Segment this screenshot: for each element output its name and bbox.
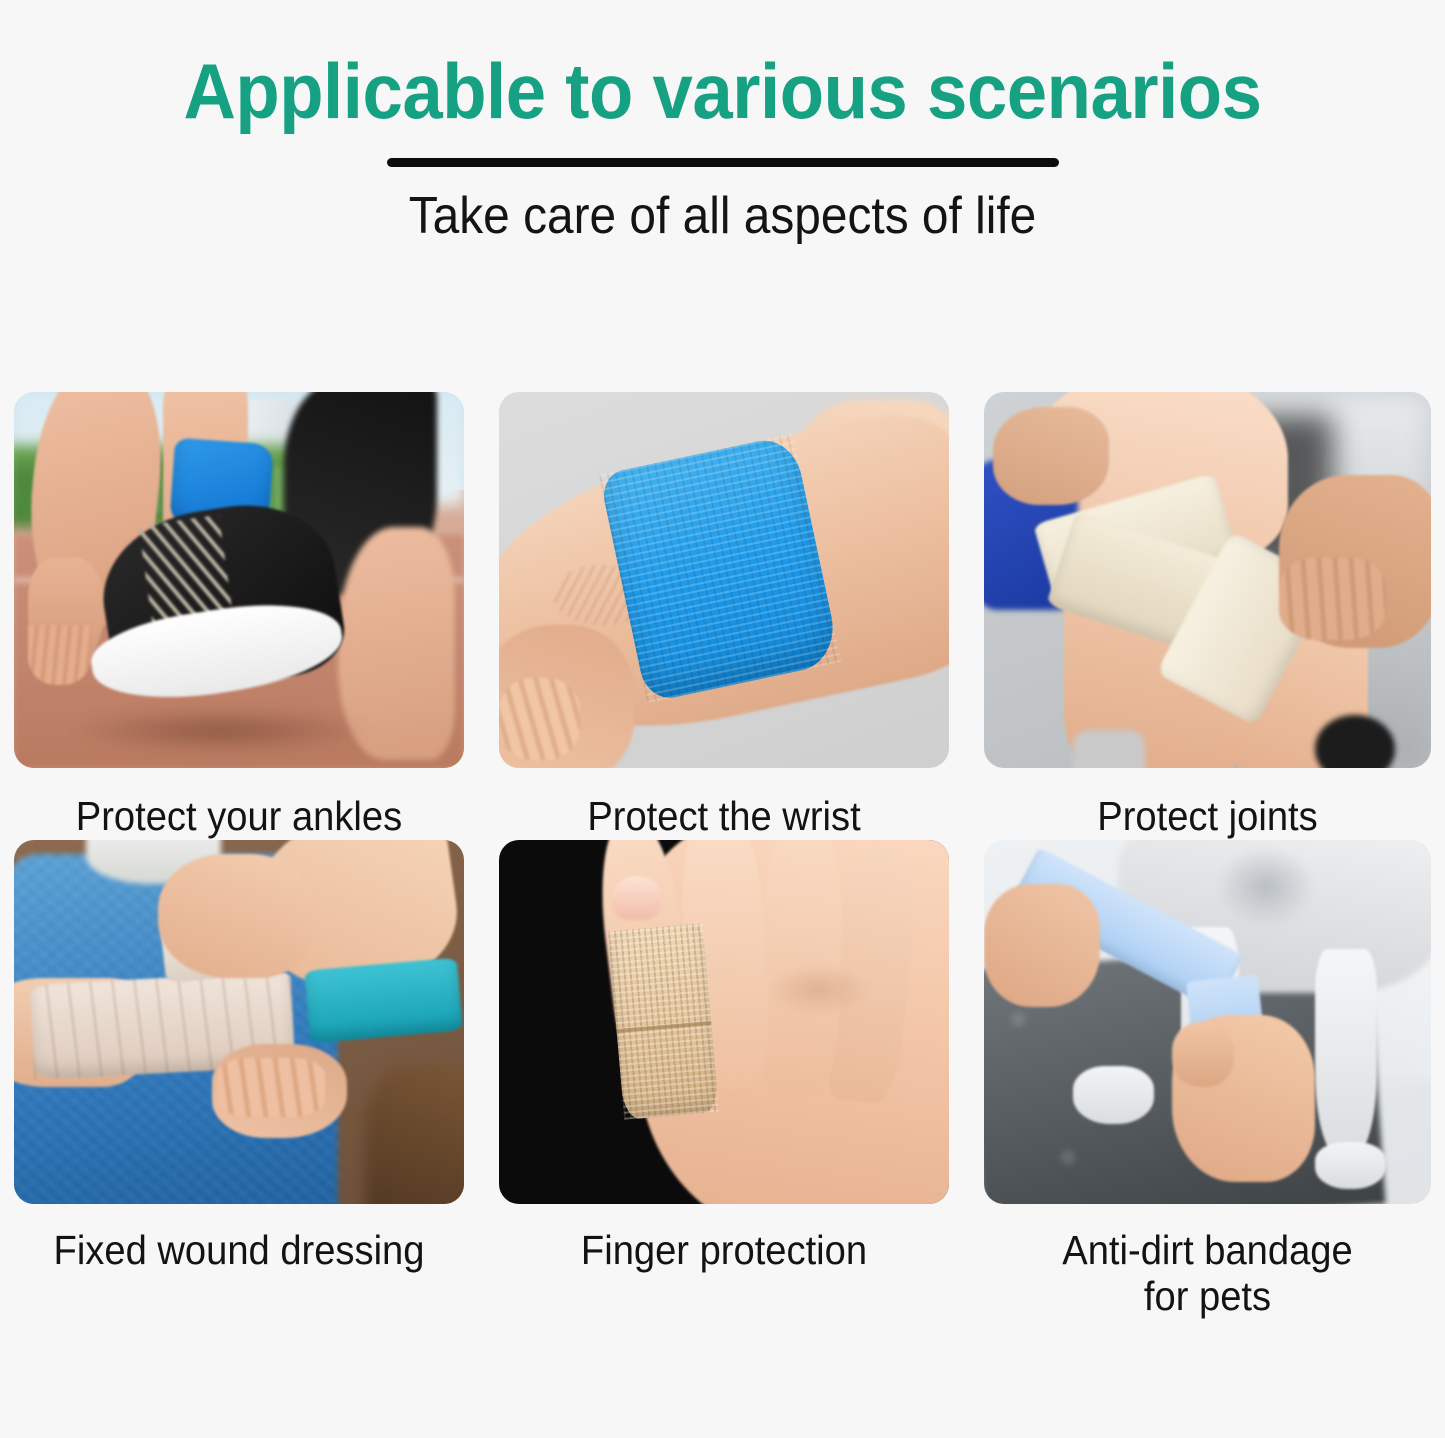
scenario-card-protect-your-ankles: Protect your ankles [14,392,464,840]
wrist-blue-bandage-photo [499,392,949,768]
forearm-wound-dressing-photo [14,840,464,1204]
title-divider [387,158,1059,167]
knee-beige-bandage-photo [984,392,1431,768]
dog-fur-spot [1216,847,1314,927]
scenario-card-protect-joints: Protect joints [984,392,1431,840]
runner-ankle-blue-bandage-photo [14,392,464,768]
title-divider-wrap [0,158,1445,167]
scenario-card-anti-dirt-bandage-for-pets: Anti-dirt bandage for pets [984,840,1431,1320]
dog-paw-front [1073,1066,1153,1124]
finger-bandage-photo [499,840,949,1204]
scenario-card-finger-protection: Finger protection [499,840,949,1320]
fingernail [612,876,662,920]
header: Applicable to various scenarios Take car… [0,0,1445,243]
scenario-caption: Protect joints [1000,768,1416,840]
hand-right-fingers [1279,557,1386,640]
fingers [28,625,91,685]
scenario-caption: Anti-dirt bandage for pets [1000,1204,1416,1320]
scenario-grid: Protect your ankles Protect the wrist [14,392,1432,1320]
hand-holding-roll [984,884,1100,1008]
knuckles [499,678,580,761]
pet-leg-bandage-photo [984,840,1431,1204]
page-subtitle: Take care of all aspects of life [58,189,1387,244]
page-title: Applicable to various scenarios [51,52,1395,132]
teal-splint [304,957,463,1043]
knuckle-shading [769,964,868,1015]
thumb [1172,1022,1235,1088]
scenario-card-fixed-wound-dressing: Fixed wound dressing [14,840,464,1320]
scenario-caption: Protect the wrist [515,768,934,840]
caregiver-hand-upper [158,854,311,978]
dog-paw-rear [1315,1142,1387,1189]
dog-rear-leg [1315,949,1378,1160]
patient-hair [365,1066,464,1204]
ground-shadow [68,708,374,753]
beige-finger-bandage [608,924,719,1121]
shoe-laces [138,515,232,623]
sock [1073,730,1145,768]
hand-left [993,407,1109,505]
scenario-card-protect-the-wrist: Protect the wrist [499,392,949,840]
scenario-caption: Fixed wound dressing [30,1204,449,1274]
scenario-caption: Finger protection [515,1204,934,1274]
scenario-caption: Protect your ankles [30,768,449,840]
caregiver-fingers [217,1058,325,1116]
